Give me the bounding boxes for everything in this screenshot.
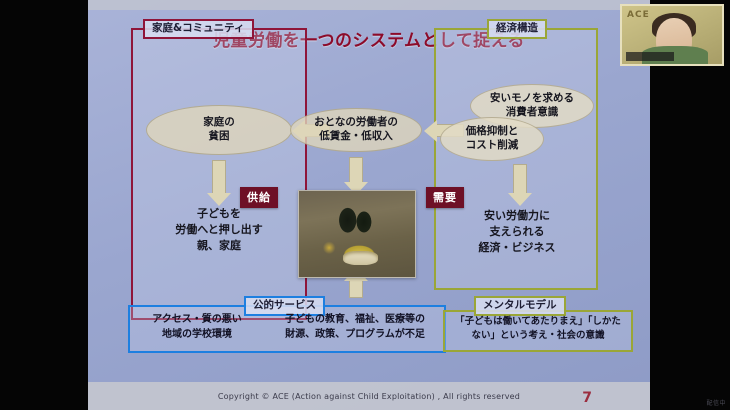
node-cheap-labor-economy: 安い労働力に 支えられる 経済・ビジネス xyxy=(444,208,590,256)
node-insufficient-budget-policy: 子どもの教育、福祉、医療等の 財源、政策、プログラムが不足 xyxy=(268,312,442,342)
status-badge-supply: 供給 xyxy=(240,187,278,208)
speaker-name-bar xyxy=(626,52,674,61)
screen-recording-stage: 児童労働を一つのシステムとして捉える 家庭&コミュニティ 経済構造 公的サービス… xyxy=(0,0,730,410)
presentation-slide: 児童労働を一つのシステムとして捉える 家庭&コミュニティ 経済構造 公的サービス… xyxy=(88,0,650,410)
node-poor-school-environment: アクセス・質の悪い 地域の学校環境 xyxy=(132,312,262,342)
group-label-economic-structure: 経済構造 xyxy=(487,19,547,39)
child-labor-photo xyxy=(298,190,416,278)
node-adult-low-wage: おとなの労働者の 低賃金・低収入 xyxy=(290,108,422,152)
arrow-down-adult-to-photo xyxy=(349,157,363,183)
node-mental-model-text: 「子どもは働いてあたりまえ」「しかた ない」という考え・社会の意識 xyxy=(445,315,631,344)
arrow-down-price-to-economy xyxy=(513,164,527,194)
arrow-down-poverty-to-push xyxy=(212,160,226,194)
stream-watermark: 配信中 xyxy=(706,398,726,407)
page-number: 7 xyxy=(582,390,592,406)
group-label-family-community: 家庭&コミュニティ xyxy=(143,19,254,39)
letterbox-left xyxy=(0,0,88,410)
ace-logo: ACE xyxy=(627,10,650,20)
copyright-notice: Copyright © ACE (Action against Child Ex… xyxy=(88,392,650,401)
arrow-up-into-photo xyxy=(349,280,363,298)
status-badge-demand: 需要 xyxy=(426,187,464,208)
webcam-overlay[interactable]: ACE xyxy=(620,4,724,66)
group-label-mental-model: メンタルモデル xyxy=(474,296,566,316)
node-push-children-to-labor: 子どもを 労働へと押し出す 親、家庭 xyxy=(136,206,302,254)
node-family-poverty: 家庭の 貧困 xyxy=(146,105,292,155)
node-price-cost-reduction: 価格抑制と コスト削減 xyxy=(440,117,544,161)
